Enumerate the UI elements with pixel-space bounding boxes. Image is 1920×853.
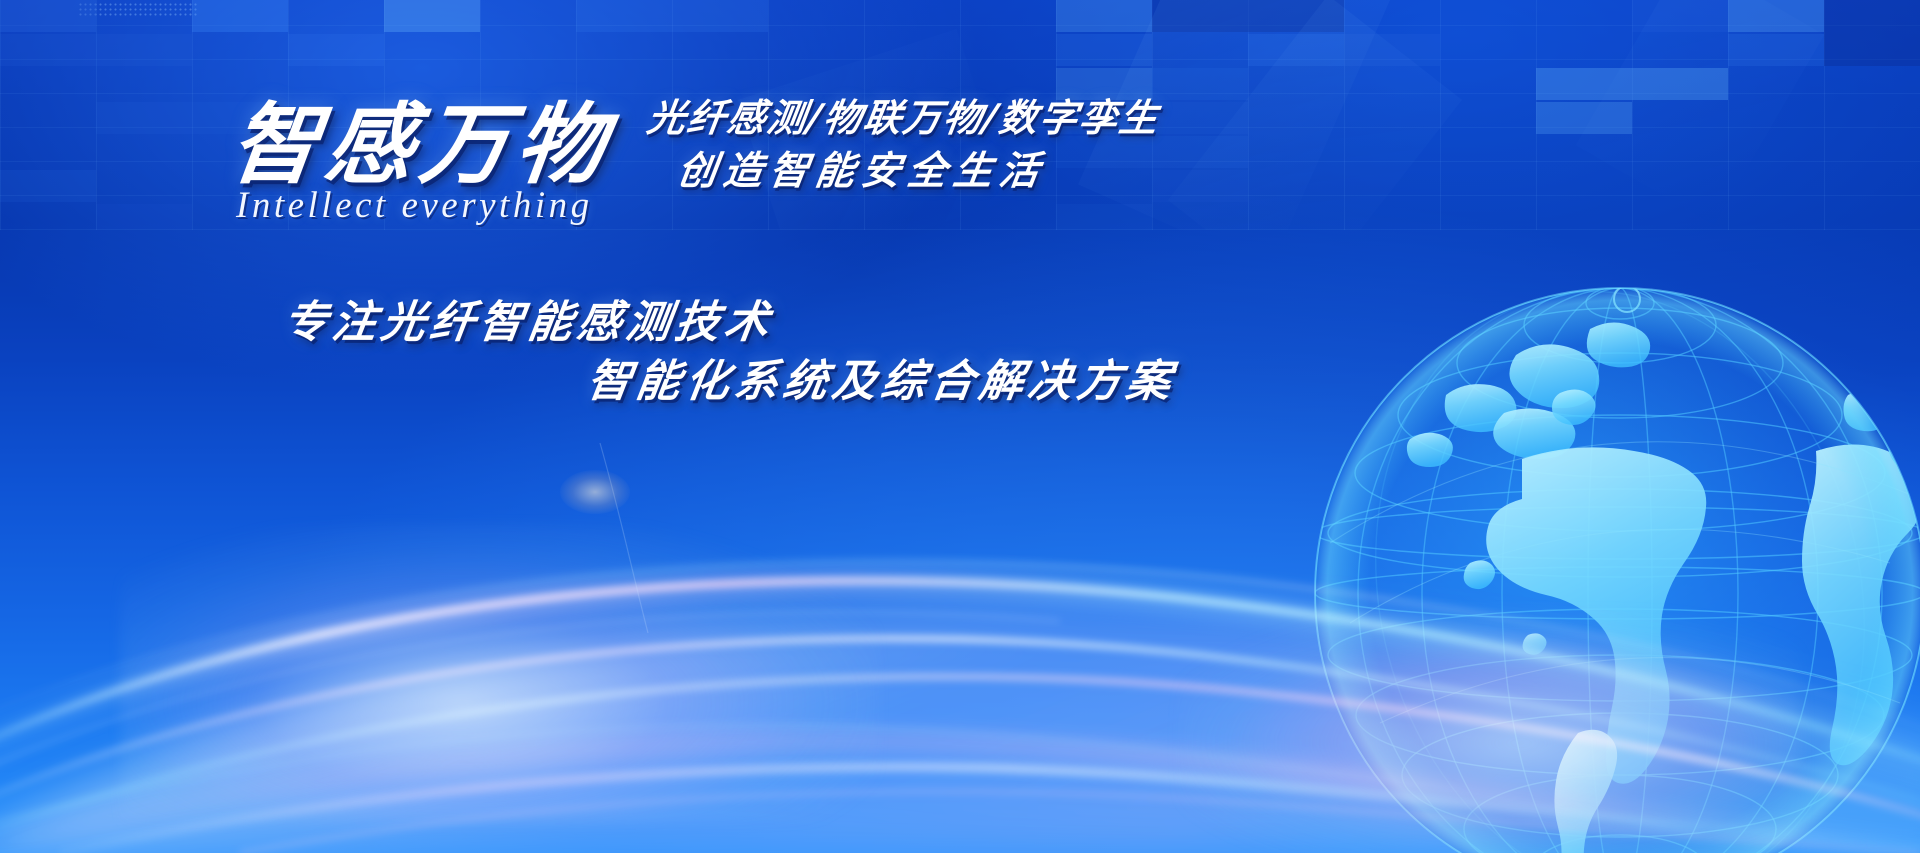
streak-ribbon-pink: [0, 741, 1920, 853]
globe-latitude-lines: [1315, 287, 1920, 853]
grid-cell: [0, 0, 96, 32]
grid-cell: [0, 170, 96, 202]
grid-cell: [192, 0, 288, 32]
streak-thin-diagonal: [600, 443, 648, 633]
promo-banner: 智感万物 Intellect everything 光纤感测/物联万物/数字孪生…: [0, 0, 1920, 853]
tagline-line-1: 专注光纤智能感测技术: [280, 286, 779, 350]
dot-pattern-patch: [78, 2, 198, 16]
wireframe-globe: [1260, 263, 1920, 853]
grid-cell: [576, 0, 768, 32]
globe-rim: [1315, 288, 1920, 853]
streak-hairline-2: [0, 612, 1060, 779]
streak-bloom-right: [1180, 613, 1800, 853]
streak-arc-3: [0, 677, 1920, 843]
grid-cell: [288, 34, 384, 66]
streak-arc-4: [0, 562, 1920, 741]
grid-cell: [0, 34, 192, 66]
page-subtitle-english: Intellect everything: [236, 184, 593, 227]
grid-cell: [384, 0, 480, 32]
streak-hairline-3: [240, 792, 1920, 853]
slogan-line-1: 光纤感测/物联万物/数字孪生: [644, 87, 1163, 142]
tagline-line-2: 智能化系统及综合解决方案: [584, 345, 1181, 409]
page-title: 智感万物: [224, 74, 620, 201]
light-streaks: [0, 423, 1920, 853]
grid-cell: [1056, 0, 1152, 32]
streak-wash: [0, 607, 1920, 853]
globe-longitude-lines: [1260, 263, 1920, 853]
streak-ribbon-white: [60, 767, 1920, 853]
streak-bloom-left: [120, 523, 880, 823]
slogan-line-2: 创造智能安全生活: [674, 140, 1050, 196]
streak-arc-main-glow: [0, 583, 1920, 775]
streak-arc-2: [0, 639, 1920, 815]
grid-cell: [96, 204, 192, 230]
streak-arc-main: [0, 581, 1920, 773]
globe-continents: [1407, 322, 1920, 853]
globe-pole-marker: [1614, 286, 1640, 312]
globe-network-arcs: [1330, 442, 1920, 723]
grid-cell: [1824, 0, 1920, 66]
streak-hairline-1: [0, 725, 1700, 833]
lens-flare: [560, 470, 630, 514]
